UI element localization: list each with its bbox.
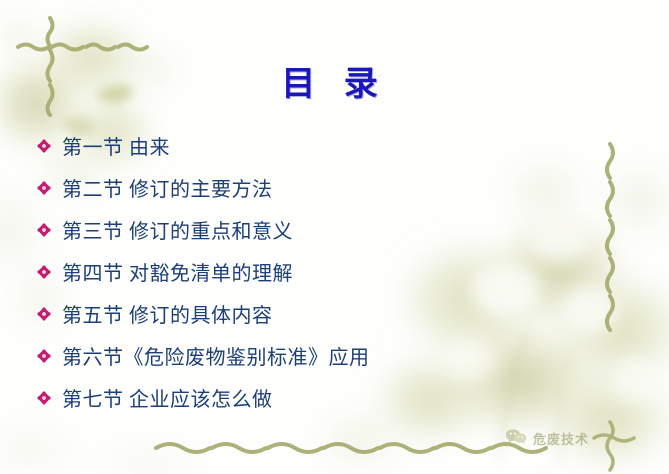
watermark-label: 危废技术 xyxy=(533,429,589,448)
presentation-slide: 目 录 第一节 由来 第二节 修订的主要方法 第三节 修订的重点和意义 第四 xyxy=(0,0,669,474)
table-of-contents: 第一节 由来 第二节 修订的主要方法 第三节 修订的重点和意义 第四节 对豁免清… xyxy=(36,128,556,422)
list-item-label: 第四节 对豁免清单的理解 xyxy=(62,257,293,286)
diamond-bullet-icon xyxy=(36,180,52,196)
list-item[interactable]: 第六节《危险废物鉴别标准》应用 xyxy=(36,338,556,372)
page-title: 目 录 xyxy=(0,56,669,105)
list-item[interactable]: 第五节 修订的具体内容 xyxy=(36,296,556,330)
list-item-label: 第七节 企业应该怎么做 xyxy=(62,383,273,412)
bamboo-vertical-svg xyxy=(596,140,626,340)
list-item-label: 第五节 修订的具体内容 xyxy=(62,299,273,328)
wechat-icon xyxy=(505,428,527,449)
list-item[interactable]: 第一节 由来 xyxy=(36,128,556,162)
list-item-label: 第六节《危险废物鉴别标准》应用 xyxy=(62,341,370,370)
diamond-bullet-icon xyxy=(36,348,52,364)
bamboo-corner-accent xyxy=(590,418,650,474)
list-item[interactable]: 第四节 对豁免清单的理解 xyxy=(36,254,556,288)
list-item-label: 第二节 修订的主要方法 xyxy=(62,173,273,202)
list-item[interactable]: 第三节 修订的重点和意义 xyxy=(36,212,556,246)
diamond-bullet-icon xyxy=(36,138,52,154)
list-item[interactable]: 第七节 企业应该怎么做 xyxy=(36,380,556,414)
list-item-label: 第三节 修订的重点和意义 xyxy=(62,215,293,244)
diamond-bullet-icon xyxy=(36,306,52,322)
list-item[interactable]: 第二节 修订的主要方法 xyxy=(36,170,556,204)
diamond-bullet-icon xyxy=(36,222,52,238)
list-item-label: 第一节 由来 xyxy=(62,131,170,160)
channel-watermark: 危废技术 xyxy=(505,428,589,449)
bamboo-corner-svg xyxy=(590,418,650,474)
bamboo-vertical-stalk xyxy=(596,140,626,345)
diamond-bullet-icon xyxy=(36,390,52,406)
diamond-bullet-icon xyxy=(36,264,52,280)
